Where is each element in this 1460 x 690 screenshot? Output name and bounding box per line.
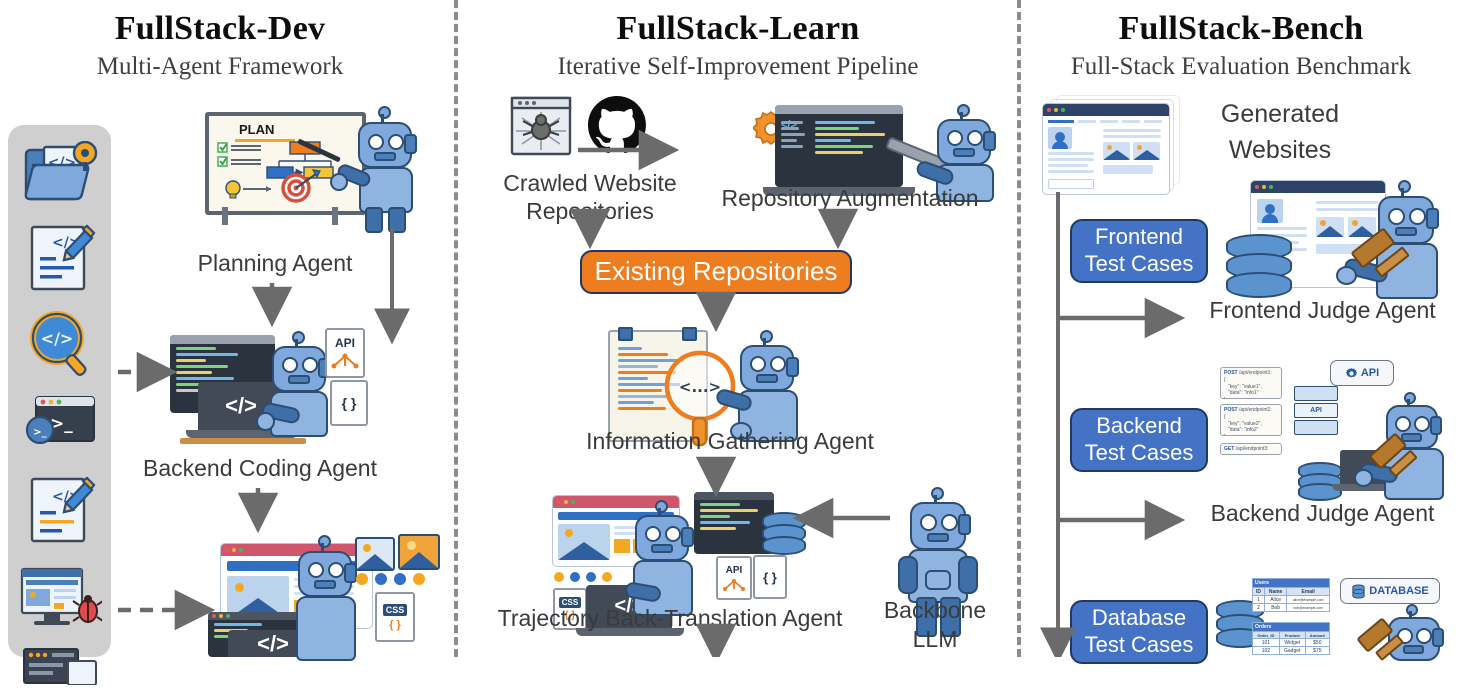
orders-col-2: Amount [1305, 632, 1329, 639]
table-row: 101 Widget $50 [1253, 639, 1330, 647]
orders-r0c2: $50 [1305, 639, 1329, 647]
backend-test-cases-box[interactable]: Backend Test Cases [1070, 408, 1208, 472]
github-icon [584, 92, 650, 163]
caption-planning-agent: Planning Agent [150, 250, 400, 277]
agent-tool-palette: </> </> [8, 125, 111, 657]
whiteboard-leg-left [222, 207, 228, 225]
api-snippet-3-path: /api/endpoint3: [1236, 446, 1269, 452]
caption-backbone-line2: LLM [860, 626, 1010, 653]
frontend-test-cases-line2: Test Cases [1085, 251, 1194, 278]
api-server-stack: API [1294, 386, 1338, 435]
code-glyph: </> [225, 393, 257, 419]
caption-crawled-line2: Repositories [460, 198, 720, 225]
database-speech-bubble: DATABASE [1340, 578, 1440, 604]
trajectory-api-label: API [726, 565, 743, 576]
panel-divider-left [454, 0, 458, 657]
code-folder-eye-icon: </> [22, 141, 100, 208]
users-r1c2: bob@example.com [1287, 604, 1330, 612]
api-snippet-1-path: /api/endpoint1: [1239, 370, 1272, 376]
database-icon [1351, 584, 1366, 599]
svg-text:>_: >_ [33, 427, 46, 438]
caption-frontend-judge-agent: Frontend Judge Agent [1185, 297, 1460, 324]
api-bubble-label: API [1361, 367, 1379, 379]
orders-col-1: Product [1279, 632, 1305, 639]
users-col-2: Email [1287, 588, 1330, 596]
svg-text:</>: </> [41, 329, 74, 348]
api-snippet-2-path: /api/endpoint2: [1239, 407, 1272, 413]
api-card-backend: API [325, 328, 365, 378]
caption-crawled-line1: Crawled Website [460, 170, 720, 197]
panel-title-learn: FullStack-Learn [460, 10, 1016, 48]
svg-text:<...>: <...> [679, 378, 721, 396]
browser-document-icon [20, 645, 100, 690]
code-editor-pencil-icon: </> [28, 473, 98, 550]
users-r0c2: alice@example.com [1287, 596, 1330, 604]
desk-surface [180, 438, 306, 444]
json-card-label: { } [342, 395, 357, 411]
plan-whiteboard: PLAN [205, 112, 366, 215]
trajectory-json-label: { } [763, 570, 777, 585]
caption-generated-line2: Websites [1180, 136, 1380, 165]
css-card-label: CSS [383, 604, 408, 616]
trajectory-json-card: { } [753, 555, 787, 599]
trajectory-api-card: API [716, 556, 752, 600]
orders-r1c1: Gadget [1279, 647, 1305, 655]
orders-r1c0: 102 [1253, 647, 1280, 655]
orders-col-0: Order_ID [1253, 632, 1280, 639]
users-r1c0: 2 [1253, 604, 1265, 612]
table-row: 1 Alice alice@example.com [1253, 596, 1330, 604]
table-row: 102 Gadget $75 [1253, 647, 1330, 655]
orders-table: Orders Order_ID Product Amount 101 Widge… [1252, 622, 1330, 655]
api-stack-label: API [1310, 407, 1322, 414]
api-snippet-1-line2: "data": "info1" [1224, 390, 1278, 397]
panel-subtitle-learn: Iterative Self-Improvement Pipeline [460, 53, 1016, 81]
panel-title-bench: FullStack-Bench [1022, 10, 1460, 48]
spider-browser-icon [510, 96, 572, 163]
users-r0c0: 1 [1253, 596, 1265, 604]
api-snippet-1-method: POST [1224, 370, 1238, 376]
frontend-test-cases-line1: Frontend [1095, 224, 1183, 251]
users-table-name: Users [1253, 579, 1330, 588]
code-file-pencil-icon: </> [28, 221, 98, 298]
panel-subtitle-dev: Multi-Agent Framework [0, 53, 440, 81]
css-card: CSS { } [375, 592, 415, 642]
api-snippet-2-method: POST [1224, 407, 1238, 413]
api-snippet-2-line1: "key": "value2", [1224, 421, 1278, 428]
json-card-backend: { } [330, 380, 368, 426]
frontend-test-cases-box[interactable]: Frontend Test Cases [1070, 219, 1208, 283]
api-snippet-3-method: GET [1224, 446, 1234, 452]
users-r0c1: Alice [1264, 596, 1286, 604]
caption-backend-coding-agent: Backend Coding Agent [110, 455, 410, 482]
caption-backbone-line1: Backbone [860, 597, 1010, 624]
database-test-cases-box[interactable]: Database Test Cases [1070, 600, 1208, 664]
caption-repo-augmentation: Repository Augmentation [700, 185, 1000, 212]
api-speech-bubble: API [1330, 360, 1394, 386]
backend-test-cases-line1: Backend [1096, 413, 1182, 440]
database-test-cases-line1: Database [1092, 605, 1186, 632]
table-row: 2 Bob bob@example.com [1253, 604, 1330, 612]
panel-divider-right [1017, 0, 1021, 657]
users-table: Users ID Name Email 1 Alice alice@exampl… [1252, 578, 1330, 612]
figure-canvas: FullStack-Dev Multi-Agent Framework </> … [0, 0, 1460, 657]
api-snippet-1-line1: "key": "value1", [1224, 384, 1278, 391]
backend-test-cases-line2: Test Cases [1085, 440, 1194, 467]
users-r1c1: Bob [1264, 604, 1286, 612]
caption-generated-line1: Generated [1180, 100, 1380, 129]
browser-bug-icon [18, 565, 102, 634]
orders-table-name: Orders [1253, 623, 1330, 632]
trajectory-database-icon [762, 512, 802, 554]
api-snippet-2: POST /api/endpoint2: { "key": "value2", … [1220, 404, 1282, 436]
whiteboard-leg-right [332, 207, 338, 225]
caption-trajectory-agent: Trajectory Back-Translation Agent [460, 605, 880, 632]
existing-repositories-box[interactable]: Existing Repositories [580, 250, 852, 294]
augmentation-code-screen: </> [775, 105, 903, 187]
database-test-cases-line2: Test Cases [1085, 632, 1194, 659]
existing-repositories-label: Existing Repositories [595, 256, 838, 288]
trajectory-palette-dots [554, 572, 612, 582]
users-col-1: Name [1264, 588, 1286, 596]
panel-subtitle-bench: Full-Stack Evaluation Benchmark [1022, 53, 1460, 81]
api-snippet-3: GET /api/endpoint3: [1220, 443, 1282, 455]
caption-info-gathering-agent: Information Gathering Agent [540, 428, 920, 455]
image-tile-1 [355, 537, 395, 571]
api-card-label: API [335, 336, 355, 350]
api-snippet-2-line2: "data": "info2" [1224, 427, 1278, 434]
orders-r0c1: Widget [1279, 639, 1305, 647]
gear-icon [1345, 367, 1358, 380]
database-bubble-label: DATABASE [1369, 585, 1428, 597]
api-snippet-1: POST /api/endpoint1: { "key": "value1", … [1220, 367, 1282, 399]
orders-r0c0: 101 [1253, 639, 1280, 647]
orders-r1c2: $75 [1305, 647, 1329, 655]
terminal-icon: >_ >_ [24, 393, 98, 456]
caption-backend-judge-agent: Backend Judge Agent [1185, 500, 1460, 527]
code-magnifier-icon: </> [26, 310, 98, 385]
image-tile-2 [398, 534, 440, 570]
users-col-0: ID [1253, 588, 1265, 596]
frontend-judge-database [1226, 234, 1288, 298]
backend-judge-database [1298, 462, 1338, 498]
generated-website-front [1042, 103, 1170, 195]
css-card-braces: { } [389, 619, 401, 631]
code-glyph-frontend: </> [257, 631, 289, 657]
palette-dots [356, 573, 425, 585]
panel-title-dev: FullStack-Dev [0, 10, 440, 48]
